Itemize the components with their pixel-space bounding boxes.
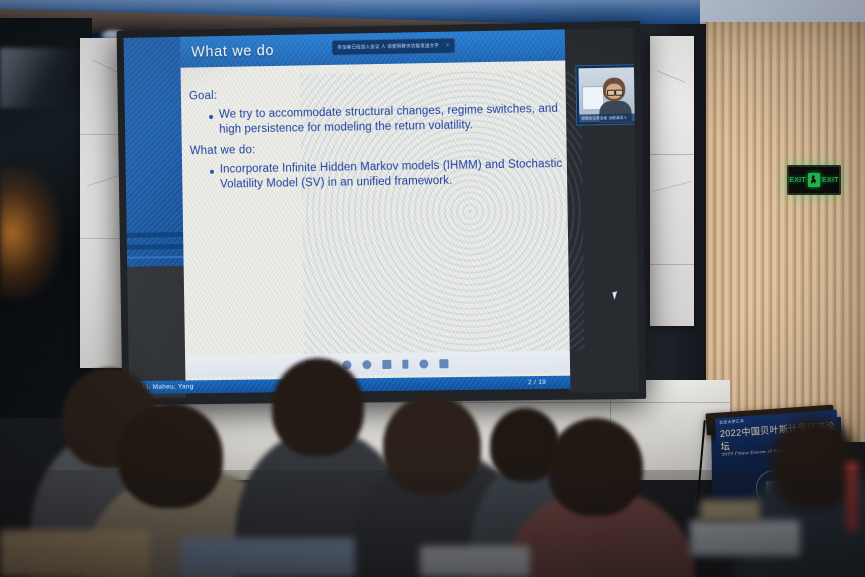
- notification-toast[interactable]: 参加者已经加入会议 人 请使用聊天功能发送文字 ×: [331, 38, 455, 56]
- webcam-overlay[interactable]: 视频会议参会者 远程演讲人: [575, 64, 639, 125]
- slide-lead-what-we-do: What we do:: [190, 144, 256, 157]
- glasses-icon: [607, 90, 615, 96]
- webcam-name-label: 视频会议参会者 远程演讲人: [579, 113, 638, 122]
- slide-bullet-1-line-2: high persistence for modeling the return…: [219, 118, 473, 137]
- emergency-exit-sign: EXIT EXIT: [787, 165, 841, 195]
- floor-shadow: [0, 470, 865, 577]
- wall-wood-slats: [700, 22, 865, 442]
- footer-authors: Li, Maheu, Yang: [143, 383, 194, 391]
- slide-lead-goal: Goal:: [189, 90, 217, 102]
- close-icon[interactable]: ×: [446, 43, 449, 49]
- bullet-icon: [209, 115, 213, 119]
- toast-message: 参加者已经加入会议 人 请使用聊天功能发送文字: [337, 43, 439, 51]
- running-man-icon: [808, 173, 820, 187]
- webcam-person-face: [606, 84, 622, 99]
- slide-body: Goal: We try to accommodate structural c…: [181, 61, 571, 381]
- presentation-screen[interactable]: What we do 参加者已经加入会议 人 请使用聊天功能发送文字 × Goa…: [117, 21, 647, 405]
- exit-sign-right-label: EXIT: [822, 177, 839, 184]
- bullet-icon: [210, 170, 214, 174]
- desktop-stripe: [127, 244, 184, 250]
- webcam-name-text: 视频会议参会者 远程演讲人: [581, 115, 627, 121]
- pdf-slide-page[interactable]: What we do 参加者已经加入会议 人 请使用聊天功能发送文字 × Goa…: [180, 29, 570, 380]
- desktop-stripe: [127, 232, 184, 238]
- glasses-icon: [615, 90, 623, 96]
- lecture-hall-photo: EXIT EXIT What we do 参加者已经加入会议 人 请使用聊天功能…: [0, 0, 865, 577]
- wall-gloss-left: [0, 18, 92, 418]
- screen-content: What we do 参加者已经加入会议 人 请使用聊天功能发送文字 × Goa…: [124, 28, 639, 398]
- wall-warm-reflection: [0, 168, 60, 298]
- attendee-head: [272, 358, 364, 456]
- footer-page-number: 2 / 19: [528, 379, 546, 386]
- wall-reflection: [0, 48, 85, 108]
- exit-sign-left-label: EXIT: [789, 177, 806, 184]
- marble-column-right: [650, 36, 694, 326]
- page-title: What we do: [191, 43, 274, 61]
- slide-bullet-2-line-2: Volatility Model (SV) in an unified fram…: [220, 174, 452, 193]
